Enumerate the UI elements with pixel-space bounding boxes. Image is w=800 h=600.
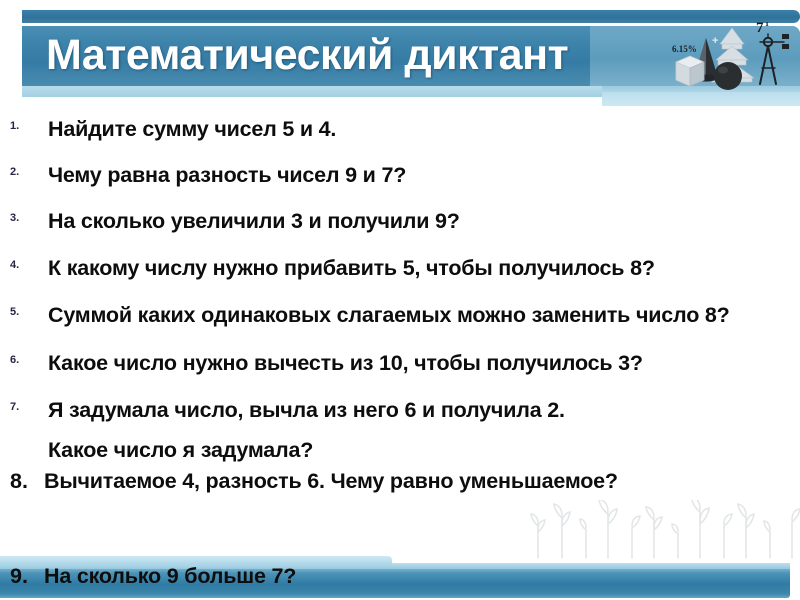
list-item: 8.Вычитаемое 4, разность 6. Чему равно у… xyxy=(0,469,800,494)
svg-text:+: + xyxy=(712,35,718,47)
list-item-marker: 2. xyxy=(10,166,36,178)
list-item-marker: 6. xyxy=(10,354,36,366)
list-item: 1. Найдите сумму чисел 5 и 4. xyxy=(0,114,800,152)
slide-canvas: Математический диктант + xyxy=(0,0,800,600)
list-item-marker: 9. xyxy=(10,560,44,592)
list-item: 7. Я задумала число, вычла из него 6 и п… xyxy=(0,395,800,433)
list-item-label: Я задумала число, вычла из него 6 и полу… xyxy=(48,395,786,425)
math-shapes-clipart: + xyxy=(672,22,794,92)
list-item: 4. К какому числу нужно прибавить 5, что… xyxy=(0,253,800,291)
list-item-continuation-label: Какое число я задумала? xyxy=(48,435,800,465)
list-item: 3. На сколько увеличили 3 и получили 9? xyxy=(0,206,800,244)
cube-icon xyxy=(676,56,704,86)
list-item-marker: 5. xyxy=(10,306,36,318)
clipart-exponent-sup-label: 1 xyxy=(765,22,769,28)
list-item-marker: 1. xyxy=(10,120,36,132)
compass-divider-icon xyxy=(760,34,784,84)
list-item-label: Чему равна разность чисел 9 и 7? xyxy=(48,160,786,190)
list-item-label: На сколько 9 больше 7? xyxy=(44,564,296,588)
list-item-marker: 8. xyxy=(10,469,44,494)
wheat-stalks-decoration xyxy=(528,500,800,560)
clipart-exponent-label: 7 xyxy=(756,22,764,36)
list-item-label: На сколько увеличили 3 и получили 9? xyxy=(48,206,786,236)
slide-header: Математический диктант + xyxy=(0,0,800,112)
list-item-marker: 3. xyxy=(10,212,36,224)
list-item-label: Суммой каких одинаковых слагаемых можно … xyxy=(48,300,786,330)
list-item: 6. Какое число нужно вычесть из 10, чтоб… xyxy=(0,348,800,386)
list-item-label: Вычитаемое 4, разность 6. Чему равно уме… xyxy=(44,469,618,493)
list-item-continuation: Какое число я задумала? xyxy=(0,435,800,465)
list-item-label: Какое число нужно вычесть из 10, чтобы п… xyxy=(48,348,786,378)
sphere-icon xyxy=(714,62,742,90)
clipart-percent-label: 6.15% xyxy=(672,44,697,54)
list-item: 2. Чему равна разность чисел 9 и 7? xyxy=(0,160,800,198)
question-list: 1. Найдите сумму чисел 5 и 4. 2. Чему ра… xyxy=(0,112,800,494)
header-underline-strip-left xyxy=(22,86,602,97)
list-item: 9.На сколько 9 больше 7? xyxy=(0,560,800,595)
page-title: Математический диктант xyxy=(46,26,568,86)
list-item-marker: 4. xyxy=(10,259,36,271)
list-item-label: Найдите сумму чисел 5 и 4. xyxy=(48,114,786,144)
header-underline-strip-step xyxy=(602,92,800,106)
list-item-marker: 7. xyxy=(10,401,36,413)
list-item-label: К какому числу нужно прибавить 5, чтобы … xyxy=(48,253,786,283)
list-item: 5. Суммой каких одинаковых слагаемых мож… xyxy=(0,300,800,338)
